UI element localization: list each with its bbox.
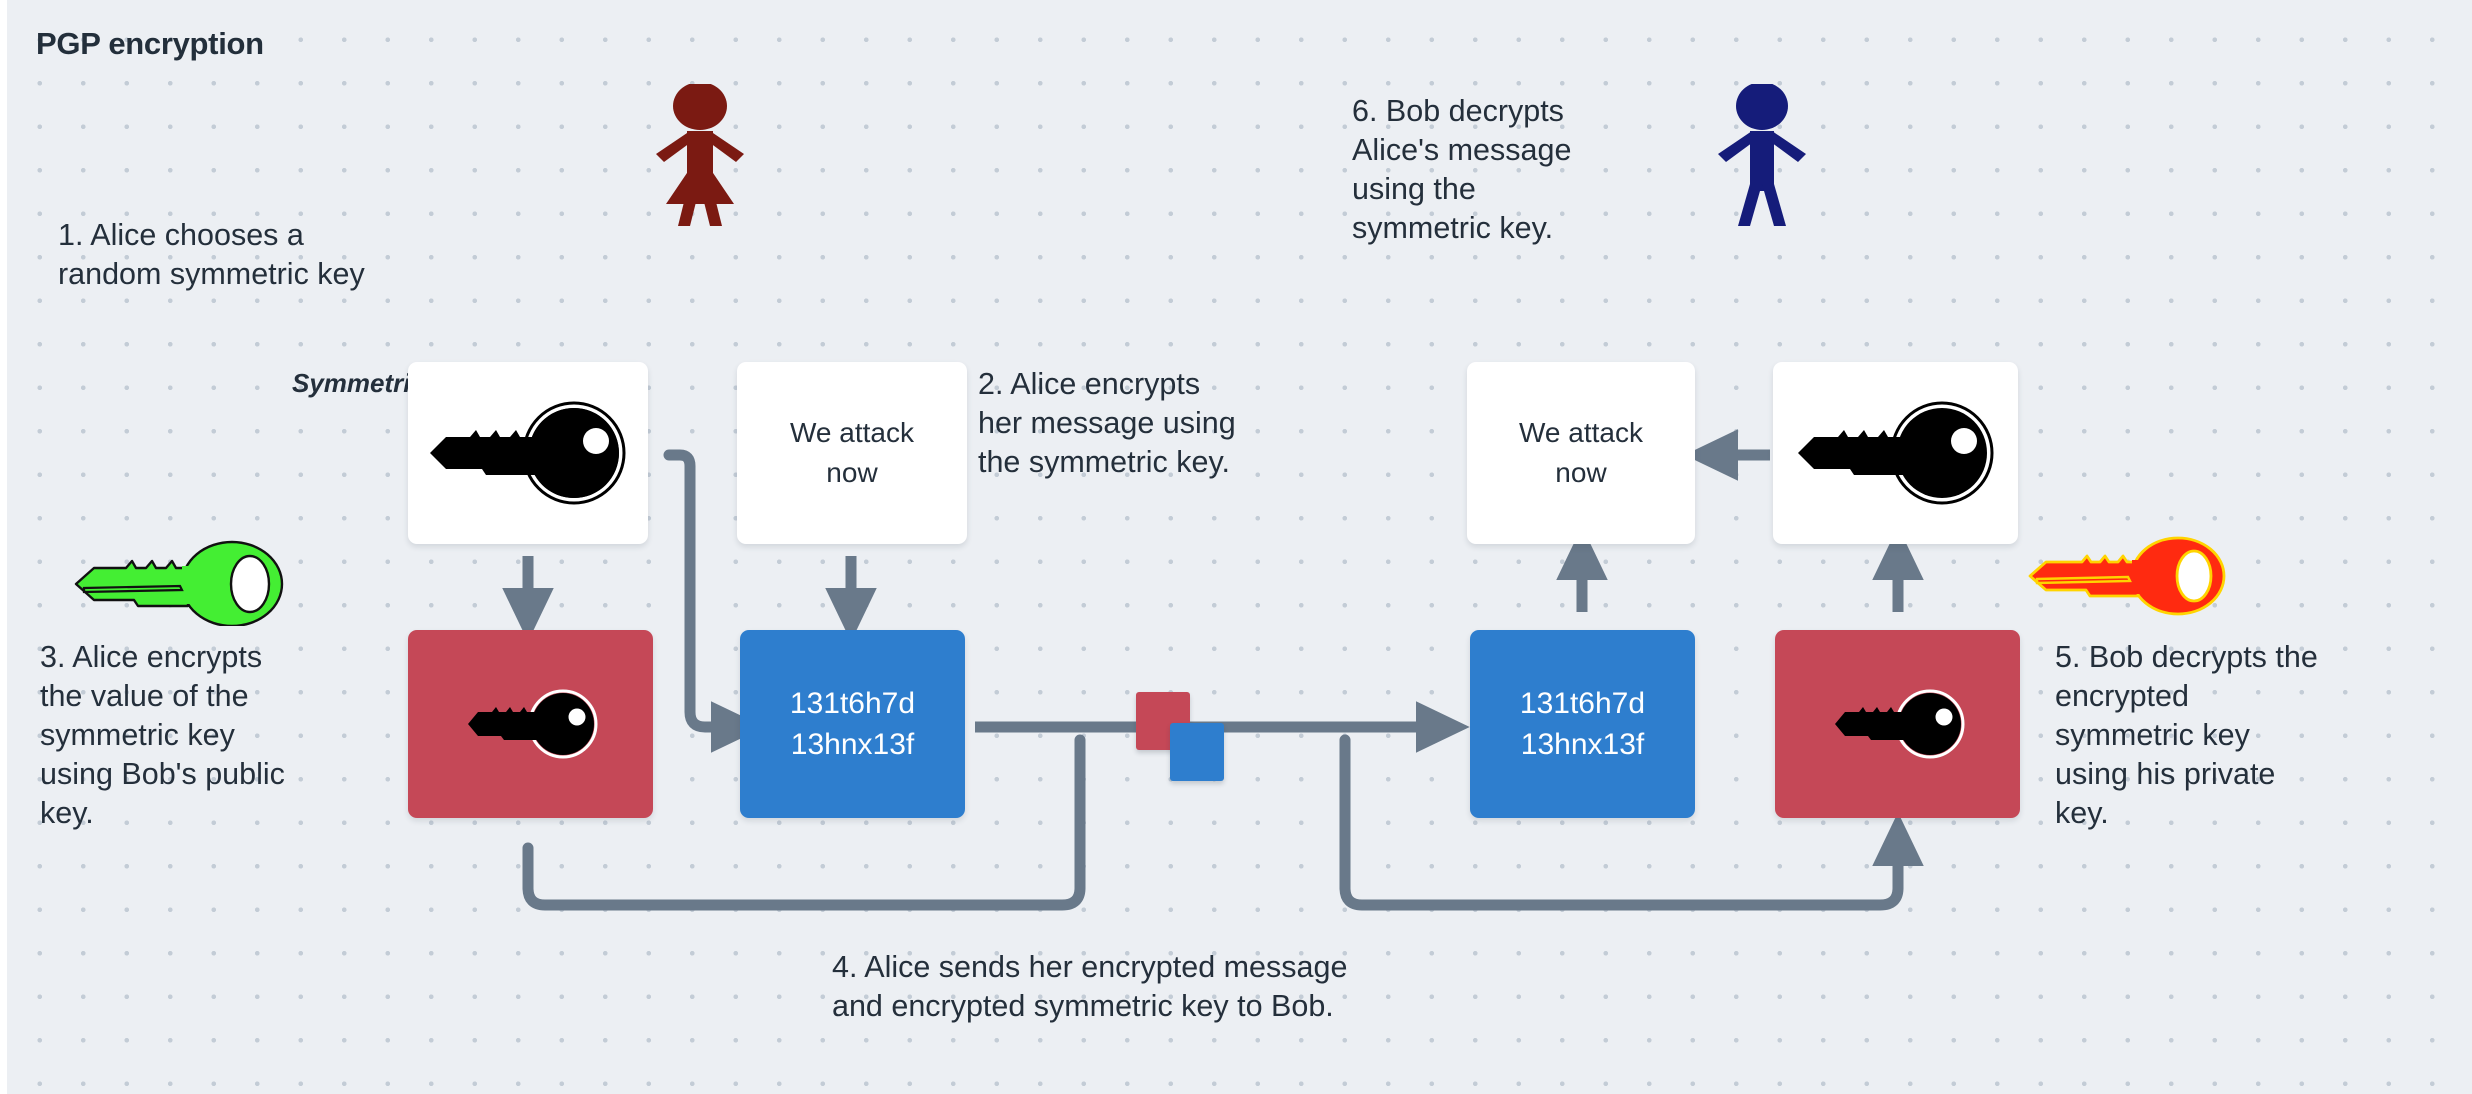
bob-leg-left xyxy=(1738,184,1762,226)
key-hole xyxy=(568,709,585,726)
step-4-text: 4. Alice sends her encrypted message and… xyxy=(832,948,1347,1026)
step-6-text: 6. Bob decrypts Alice's message using th… xyxy=(1352,92,1571,248)
bob-ciphertext-box[interactable]: 131t6h7d 13hnx13f xyxy=(1470,630,1695,818)
pgp-encryption-diagram: PGP encryption xyxy=(0,0,2472,1094)
alice-encrypted-key-box[interactable] xyxy=(408,630,653,818)
bob-ciphertext-text: 131t6h7d 13hnx13f xyxy=(1520,683,1645,766)
green-key-icon xyxy=(72,540,284,626)
step-3-text: 3. Alice encrypts the value of the symme… xyxy=(40,638,285,833)
page-title: PGP encryption xyxy=(36,26,264,62)
step-5-text: 5. Bob decrypts the encrypted symmetric … xyxy=(2055,638,2318,833)
alice-leg-left xyxy=(678,202,696,226)
alice-symmetric-key-card[interactable] xyxy=(408,362,648,544)
key-hole xyxy=(231,556,269,612)
bob-head xyxy=(1736,84,1788,130)
alice-ciphertext-box[interactable]: 131t6h7d 13hnx13f xyxy=(740,630,965,818)
key-hole xyxy=(1935,709,1952,726)
key-icon-black-outlined xyxy=(1830,686,1966,762)
bob-plaintext-text: We attack now xyxy=(1519,413,1643,493)
alice-figure xyxy=(640,84,760,226)
key-icon-black xyxy=(1792,399,2000,507)
bob-encrypted-key-box[interactable] xyxy=(1775,630,2020,818)
key-icon-black xyxy=(424,399,632,507)
key-hole xyxy=(2177,551,2211,601)
key-hole xyxy=(583,428,609,454)
elbow-symkey-to-ciphertext xyxy=(669,455,735,727)
bob-symmetric-key-card[interactable] xyxy=(1773,362,2018,544)
alice-plaintext-card[interactable]: We attack now xyxy=(737,362,967,544)
alice-ciphertext-text: 131t6h7d 13hnx13f xyxy=(790,683,915,766)
bob-leg-right xyxy=(1762,184,1786,226)
bob-figure xyxy=(1702,84,1822,226)
page-left-gutter xyxy=(0,0,7,1094)
red-key-icon xyxy=(2026,536,2226,616)
alice-plaintext-text: We attack now xyxy=(790,413,914,493)
alice-leg-right xyxy=(704,202,722,226)
key-icon-black-outlined xyxy=(463,686,599,762)
step-2-text: 2. Alice encrypts her message using the … xyxy=(978,365,1236,482)
step-1-text: 1. Alice chooses a random symmetric key xyxy=(58,216,365,294)
alice-head xyxy=(673,84,727,130)
bob-plaintext-card[interactable]: We attack now xyxy=(1467,362,1695,544)
key-hole xyxy=(1951,428,1977,454)
packet-ciphertext xyxy=(1170,723,1224,781)
alice-skirt xyxy=(666,170,734,204)
